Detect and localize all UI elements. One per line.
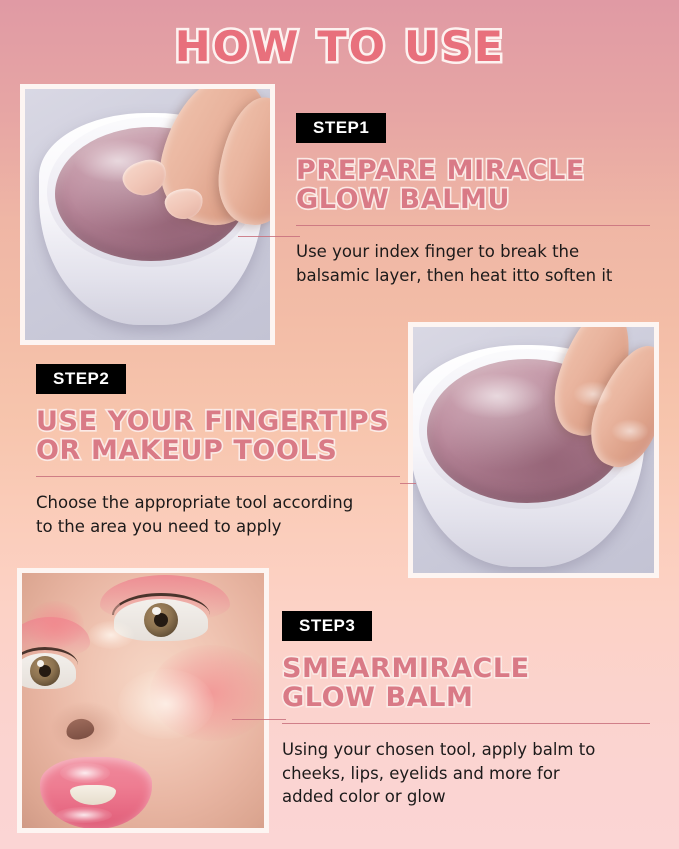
step3-divider: [282, 723, 650, 724]
step2-text-block: STEP2 USE YOUR FINGERTIPS OR MAKEUP TOOL…: [36, 364, 404, 538]
step3-connector-line: [232, 719, 286, 720]
step1-photo-inner: [25, 89, 270, 340]
step2-body: Choose the appropriate tool according to…: [36, 491, 404, 538]
step1-photo: [20, 84, 275, 345]
step3-photo: [17, 568, 269, 833]
temple-blush: [26, 601, 84, 649]
step2-divider: [36, 476, 400, 477]
step2-photo-inner: [413, 327, 654, 573]
step2-connector-line: [400, 483, 416, 484]
step1-badge: STEP1: [296, 113, 386, 143]
step2-photo: [408, 322, 659, 578]
step1-body: Use your index finger to break the balsa…: [296, 240, 656, 287]
step3-photo-inner: [22, 573, 264, 828]
step3-body: Using your chosen tool, apply balm to ch…: [282, 738, 654, 808]
fingertip-gloss-two: [611, 419, 649, 443]
pupil-right: [154, 613, 168, 627]
lower-lip-gloss: [56, 807, 112, 823]
infographic-page: HOW TO USE STEP1 PREPARE MIRACLE GLOW BA…: [0, 0, 679, 849]
page-title: HOW TO USE: [174, 22, 504, 71]
step1-divider: [296, 225, 650, 226]
step3-text-block: STEP3 SMEARMIRACLE GLOW BALM Using your …: [282, 611, 654, 809]
page-title-container: HOW TO USE: [0, 22, 679, 71]
step1-text-block: STEP1 PREPARE MIRACLE GLOW BALMU Use you…: [296, 113, 656, 287]
cheekbone-highlight: [88, 621, 134, 649]
step1-connector-line: [238, 236, 300, 237]
step2-heading: USE YOUR FINGERTIPS OR MAKEUP TOOLS: [36, 407, 404, 465]
balm-sheen: [449, 373, 545, 419]
fingertip-gloss: [573, 381, 613, 407]
step1-heading: PREPARE MIRACLE GLOW BALMU: [296, 156, 656, 214]
lip-gloss-highlight: [60, 763, 110, 783]
step2-badge: STEP2: [36, 364, 126, 394]
step3-heading: SMEARMIRACLE GLOW BALM: [282, 654, 654, 712]
cheek-glow: [118, 669, 214, 739]
step3-badge: STEP3: [282, 611, 372, 641]
